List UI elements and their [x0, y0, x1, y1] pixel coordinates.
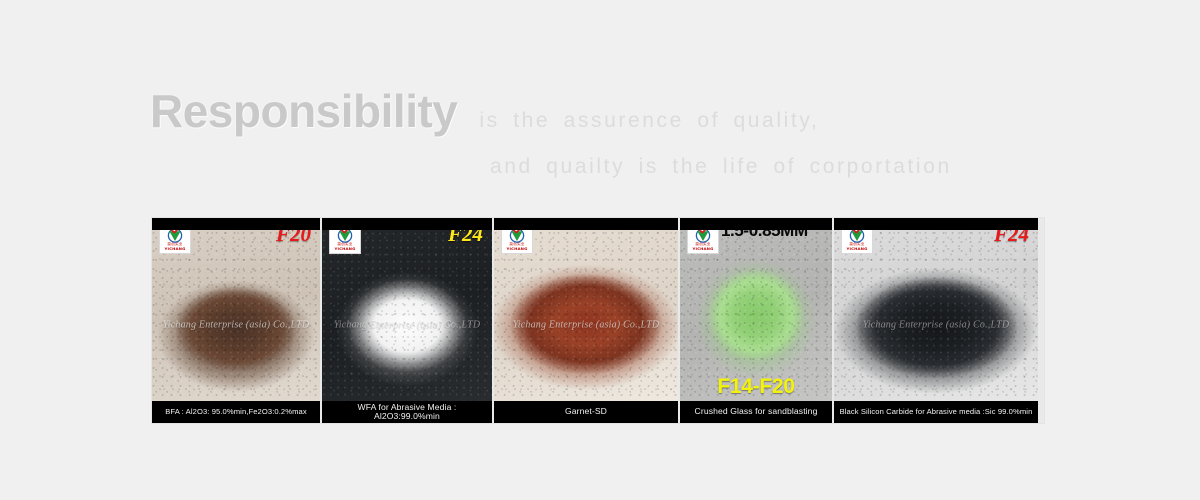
panel-top-bar [680, 218, 832, 230]
logo-latin-text: YICHANG [507, 247, 528, 251]
product-photo-wfa [322, 230, 492, 401]
product-photo-black-silicon-carbide [834, 230, 1038, 401]
grain-texture-overlay [494, 230, 678, 401]
headline-keyword: Responsibility [150, 88, 457, 134]
caption-crushed-glass: Crushed Glass for sandblasting [680, 401, 832, 423]
watermark-bfa: Yichang Enterprise (asia) Co.,LTD [152, 319, 320, 330]
product-panel-wfa[interactable]: 赢创实业 YICHANG F24 Yichang Enterprise (asi… [322, 218, 492, 423]
watermark-garnet: Yichang Enterprise (asia) Co.,LTD [494, 319, 678, 330]
logo-latin-text: YICHANG [165, 247, 186, 251]
product-panel-garnet[interactable]: 赢创实业 YICHANG Yichang Enterprise (asia) C… [494, 218, 678, 423]
headline-tail-text: is the assurence of quality, [479, 109, 819, 133]
caption-bfa: BFA : Al2O3: 95.0%min,Fe2O3:0.2%max [152, 401, 320, 423]
caption-garnet: Garnet-SD [494, 401, 678, 423]
watermark-wfa: Yichang Enterprise (asia) Co.,LTD [322, 319, 492, 330]
grain-texture-overlay [152, 230, 320, 401]
caption-black-silicon-carbide: Black Silicon Carbide for Abrasive media… [834, 401, 1038, 423]
product-panel-bfa[interactable]: 赢创实业 YICHANG F20 Yichang Enterprise (asi… [152, 218, 320, 423]
headline-second-line: and quailty is the life of corportation [490, 155, 950, 179]
product-panel-black-silicon-carbide[interactable]: 赢创实业 YICHANG F24 Yichang Enterprise (asi… [834, 218, 1038, 423]
product-panel-crushed-glass[interactable]: 赢创实业 YICHANG 1.5-0.85MM F14-F20 Crushed … [680, 218, 832, 423]
caption-wfa: WFA for Abrasive Media : Al2O3:99.0%min [322, 401, 492, 423]
panel-top-bar [152, 218, 320, 230]
logo-latin-text: YICHANG [335, 247, 356, 251]
logo-latin-text: YICHANG [847, 247, 868, 251]
product-photo-garnet [494, 230, 678, 401]
logo-latin-text: YICHANG [693, 247, 714, 251]
watermark-black-silicon-carbide: Yichang Enterprise (asia) Co.,LTD [834, 319, 1038, 330]
product-image-strip: 赢创实业 YICHANG F20 Yichang Enterprise (asi… [152, 218, 1044, 423]
panel-top-bar [834, 218, 1038, 230]
panel-top-bar [322, 218, 492, 230]
grain-texture-overlay [322, 230, 492, 401]
product-photo-bfa [152, 230, 320, 401]
banner-text-block: Responsibility is the assurence of quali… [150, 88, 950, 188]
grade-label-crushed-glass: F14-F20 [680, 376, 832, 397]
headline-row: Responsibility is the assurence of quali… [150, 88, 950, 134]
panel-top-bar [494, 218, 678, 230]
grain-texture-overlay [834, 230, 1038, 401]
